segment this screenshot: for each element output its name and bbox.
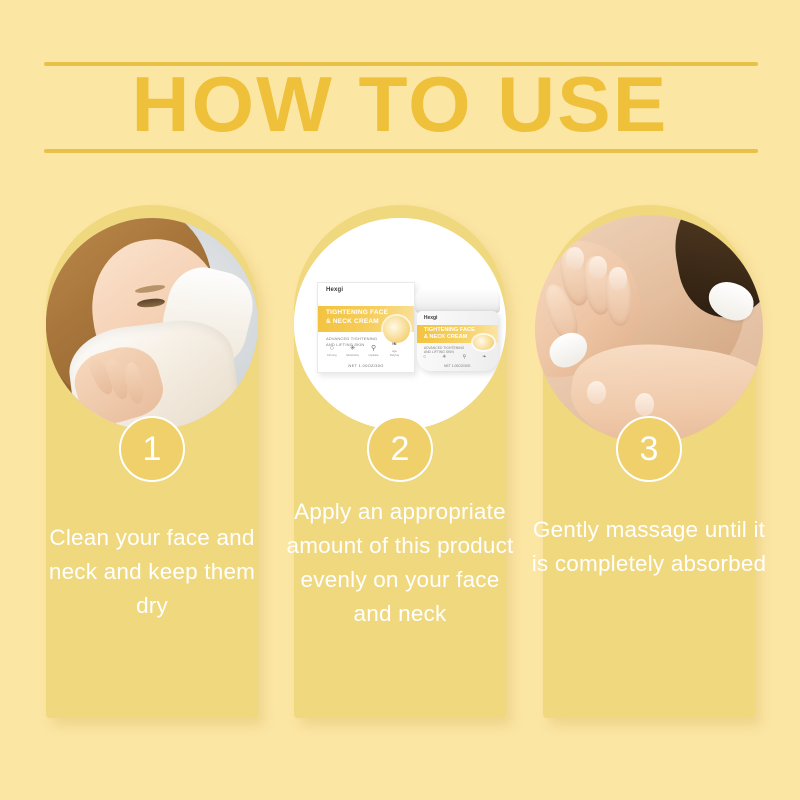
step-3-number-badge: 3	[616, 416, 682, 482]
infographic-page: HOW TO USE	[0, 0, 800, 800]
age-defying-icon: ❧	[388, 341, 402, 348]
step-2-photo: Hexgi TIGHTENING FACE & NECK CREAM ADVAN…	[294, 218, 506, 430]
jar-body: Hexgi TIGHTENING FACE & NECK CREAM ADVAN…	[417, 311, 498, 371]
step-card-3[interactable]: 3 Gently massage until it is completely …	[543, 205, 755, 718]
step-2-number-badge: 2	[367, 416, 433, 482]
steps-container: 1 Clean your face and neck and keep them…	[0, 0, 800, 800]
product-name-jar: TIGHTENING FACE & NECK CREAM	[424, 327, 479, 342]
woman-drying-face-illustration	[46, 218, 258, 430]
jar-benefit-icons: ○ ✳ ⚲ ❧	[423, 354, 486, 360]
benefit-icon-firming: ○ Firming	[325, 345, 339, 357]
firming-icon: ○	[325, 345, 339, 352]
step-1-number-badge: 1	[119, 416, 185, 482]
jar-firming-icon: ○	[423, 354, 426, 360]
hydrate-icon: ⚲	[367, 345, 381, 352]
step-3-caption: Gently massage until it is completely ab…	[529, 513, 769, 581]
step-card-2[interactable]: Hexgi TIGHTENING FACE & NECK CREAM ADVAN…	[294, 205, 506, 718]
benefit-label-age-defying: Age Defying	[388, 349, 402, 357]
benefit-icon-hydrate: ⚲ Hydrate	[367, 345, 381, 357]
step-3-photo	[535, 215, 763, 443]
jar-age-defying-icon: ❧	[482, 354, 486, 360]
benefit-icon-age-defying: ❧ Age Defying	[388, 341, 402, 357]
jar-swirl-icon	[473, 335, 494, 350]
jar-moisturize-icon: ✳	[442, 354, 446, 360]
benefit-label-hydrate: Hydrate	[367, 353, 381, 357]
product-illustration: Hexgi TIGHTENING FACE & NECK CREAM ADVAN…	[294, 218, 506, 430]
hands-massaging-neck-illustration	[535, 215, 763, 443]
step-card-1[interactable]: 1 Clean your face and neck and keep them…	[46, 205, 258, 718]
step-2-caption: Apply an appropriate amount of this prod…	[280, 495, 520, 631]
product-swirl-icon	[383, 316, 410, 343]
product-net-weight-box: NET 1.00OZ/30G	[318, 363, 413, 368]
product-box: Hexgi TIGHTENING FACE & NECK CREAM ADVAN…	[317, 282, 414, 373]
product-name-box: TIGHTENING FACE & NECK CREAM	[326, 308, 393, 326]
moisturize-icon: ✳	[346, 345, 360, 352]
product-jar: Hexgi TIGHTENING FACE & NECK CREAM ADVAN…	[415, 288, 500, 371]
step-1-caption: Clean your face and neck and keep them d…	[32, 521, 272, 623]
jar-lid	[415, 288, 500, 313]
benefit-label-moisturize: Moisturize	[346, 353, 360, 357]
jar-hydrate-icon: ⚲	[463, 354, 467, 360]
benefit-icon-moisturize: ✳ Moisturize	[346, 345, 360, 357]
product-benefit-icons: ○ Firming ✳ Moisturize ⚲ Hydrate	[325, 343, 401, 357]
product-brand-box: Hexgi	[326, 287, 343, 293]
product-brand-jar: Hexgi	[424, 315, 438, 321]
product-net-weight-jar: NET 1.00OZ/30G	[417, 364, 498, 368]
step-1-photo	[46, 218, 258, 430]
benefit-label-firming: Firming	[325, 353, 339, 357]
